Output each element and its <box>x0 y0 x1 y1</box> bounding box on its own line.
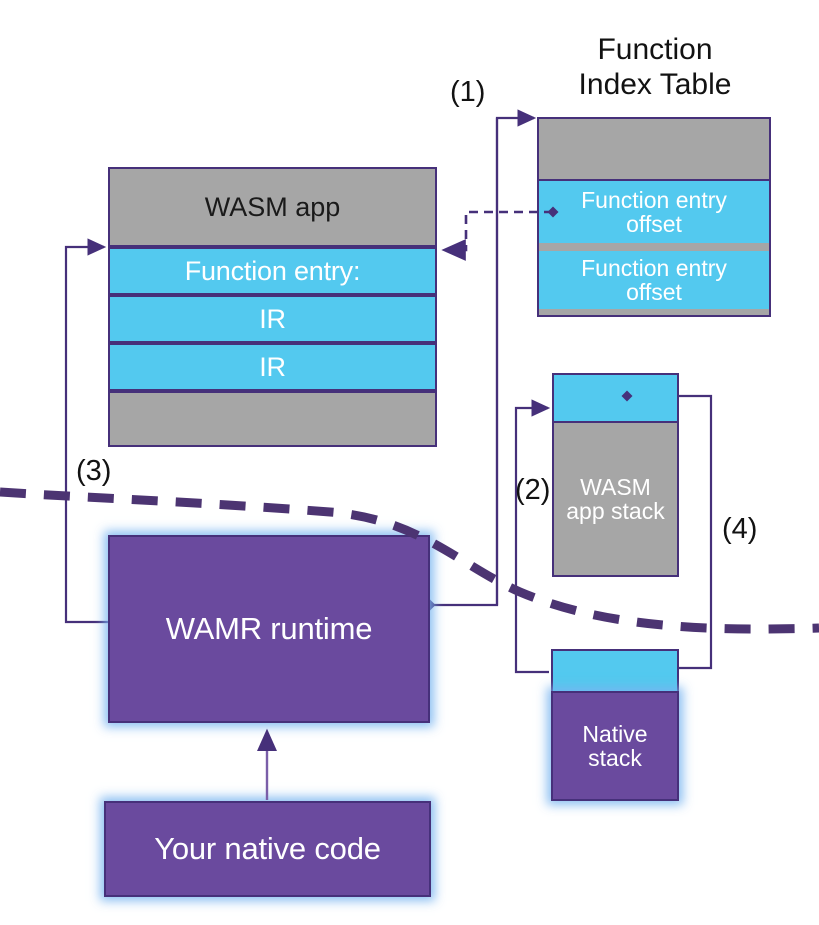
diamond-fit-offset <box>548 207 559 218</box>
function-index-table-title: Function Index Table <box>545 32 765 103</box>
step-label-4: (4) <box>722 513 757 546</box>
sandbox-boundary-dashed-curve <box>0 492 819 629</box>
diagram-canvas: WASM app Function entry: IR IR Function … <box>0 0 819 925</box>
step-label-3: (3) <box>76 455 111 488</box>
step-label-2: (2) <box>515 474 550 507</box>
step-label-1: (1) <box>450 76 485 109</box>
connector-lines-over <box>0 0 819 925</box>
diamond-wasm-app-stack <box>622 391 633 402</box>
connector-offset-dashed <box>445 207 559 251</box>
